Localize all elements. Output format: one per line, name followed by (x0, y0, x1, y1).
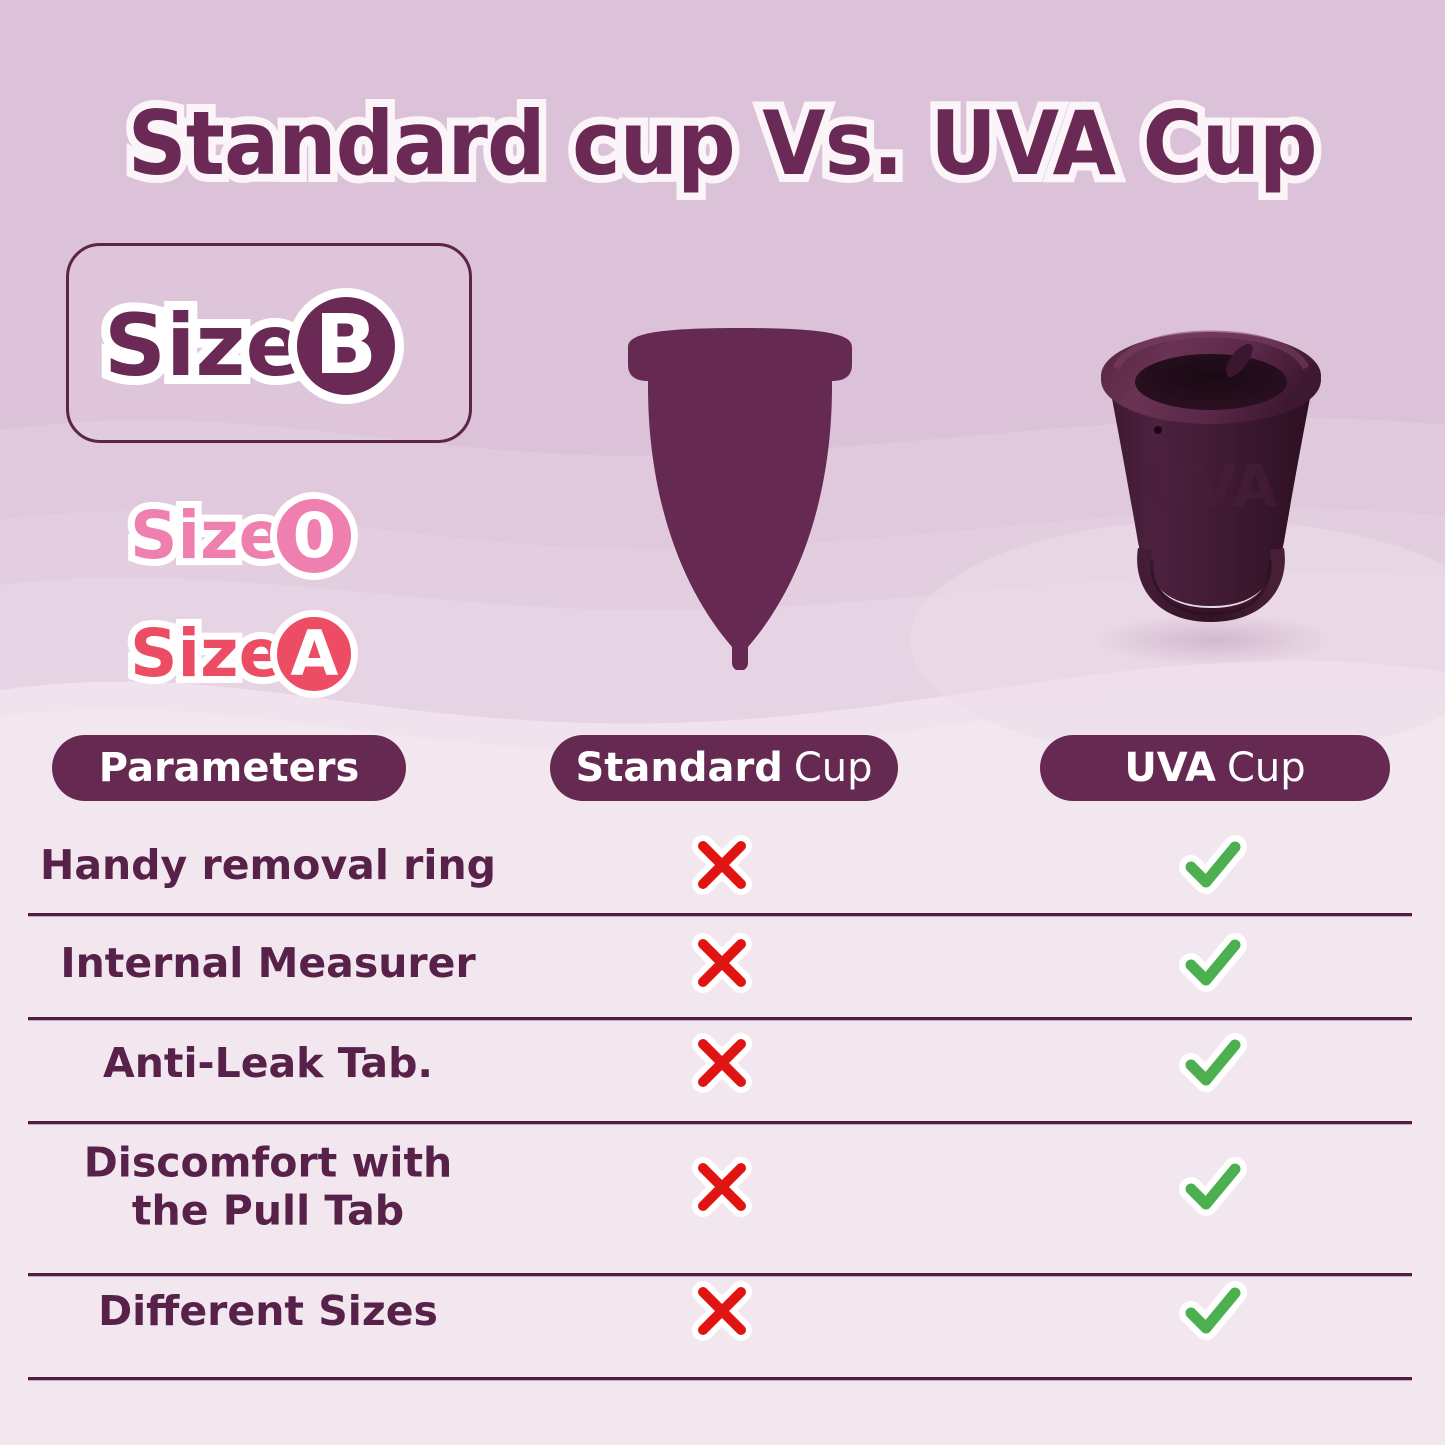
infographic-root: Standard cup Vs. UVA Cup Size B Size 0 S… (0, 0, 1445, 1445)
size-b-label: Size (104, 303, 304, 389)
table-row: Discomfort withthe Pull Tab (0, 1113, 1445, 1261)
table-row: Anti-Leak Tab. (0, 1013, 1445, 1113)
cross-icon (687, 830, 757, 900)
standard-cup-cell (662, 1152, 782, 1222)
table-row: Handy removal ring (0, 817, 1445, 913)
uva-cup-cell (1153, 1027, 1273, 1099)
size-0-value: 0 (270, 492, 358, 580)
standard-cup-cell (662, 928, 782, 998)
parameter-label: Internal Measurer (28, 939, 508, 987)
standard-cup-cell (662, 1276, 782, 1346)
size-0-badge: Size 0 (130, 492, 358, 580)
size-a-badge: Size A (130, 610, 358, 698)
parameter-label-line: Discomfort with (28, 1139, 508, 1187)
parameters-header-label: Parameters (99, 745, 360, 791)
standard-cup-header: Standard Cup (550, 735, 898, 801)
standard-header-bold: Standard (575, 745, 782, 791)
check-icon (1177, 1151, 1249, 1223)
uva-cup-image: UVA (1046, 310, 1376, 680)
check-icon (1177, 829, 1249, 901)
row-divider (28, 1377, 1412, 1381)
parameters-header: Parameters (52, 735, 406, 801)
size-a-value: A (270, 610, 358, 698)
standard-cup-cell (662, 830, 782, 900)
parameter-label: Handy removal ring (28, 841, 508, 889)
cross-icon (687, 928, 757, 998)
uva-header-light: Cup (1227, 745, 1306, 791)
check-icon (1177, 1275, 1249, 1347)
table-rows: Handy removal ring Internal Measurer Ant… (0, 817, 1445, 1361)
check-icon (1177, 1027, 1249, 1099)
size-b-badge: Size B (104, 288, 404, 404)
table-row: Internal Measurer (0, 913, 1445, 1013)
page-title: Standard cup Vs. UVA Cup (128, 98, 1317, 190)
uva-header-bold: UVA (1124, 745, 1216, 791)
page-title-wrapper: Standard cup Vs. UVA Cup (0, 98, 1445, 190)
uva-cup-cell (1153, 927, 1273, 999)
cross-icon (687, 1152, 757, 1222)
parameter-label: Anti-Leak Tab. (28, 1039, 508, 1087)
size-b-value: B (288, 288, 404, 404)
parameter-label: Discomfort withthe Pull Tab (28, 1139, 508, 1236)
standard-cup-cell (662, 1028, 782, 1098)
parameter-label-line: Different Sizes (28, 1287, 508, 1335)
parameter-label-line: Anti-Leak Tab. (28, 1039, 508, 1087)
parameter-label: Different Sizes (28, 1287, 508, 1335)
uva-cup-cell (1153, 829, 1273, 901)
standard-header-light: Cup (794, 745, 873, 791)
uva-cup-header: UVA Cup (1040, 735, 1390, 801)
table-row: Different Sizes (0, 1261, 1445, 1361)
size-0-label: Size (130, 503, 283, 569)
parameter-label-line: Handy removal ring (28, 841, 508, 889)
size-a-label: Size (130, 621, 283, 687)
parameter-label-line: Internal Measurer (28, 939, 508, 987)
uva-cup-cell (1153, 1151, 1273, 1223)
standard-cup-image (610, 325, 870, 670)
cross-icon (687, 1028, 757, 1098)
check-icon (1177, 927, 1249, 999)
svg-text:UVA: UVA (1145, 452, 1278, 520)
parameter-label-line: the Pull Tab (28, 1187, 508, 1235)
cross-icon (687, 1276, 757, 1346)
uva-cup-cell (1153, 1275, 1273, 1347)
